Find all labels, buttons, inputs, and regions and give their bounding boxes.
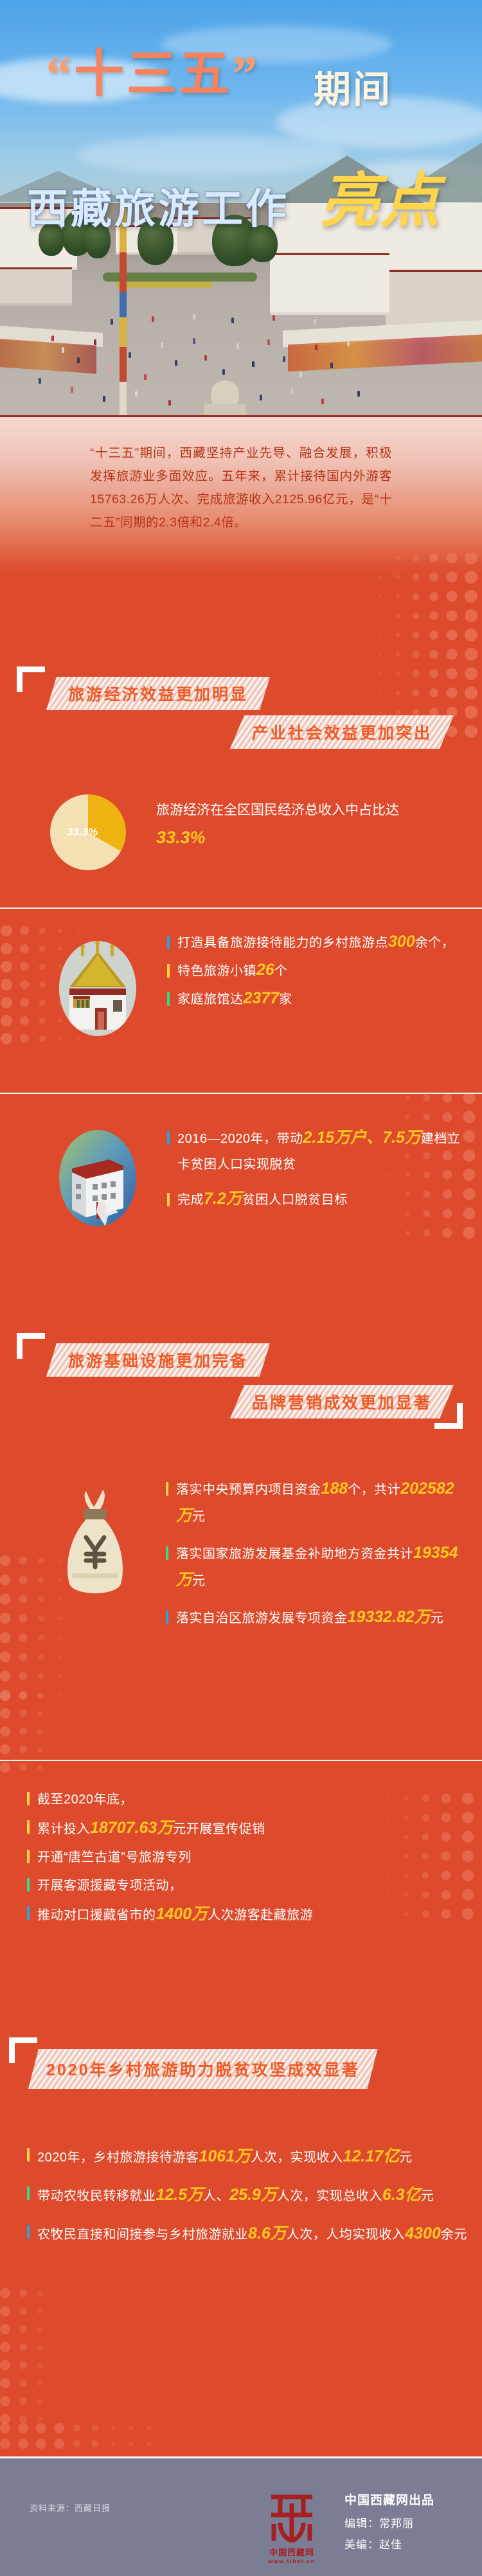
- halftone-dots-left-promo: [0, 1690, 77, 1787]
- banner-4-label: 品牌营销成效更加显著: [252, 1390, 432, 1413]
- fact-item: 家庭旅馆达2377家: [167, 986, 463, 1012]
- source-text: 资料来源：西藏日报: [30, 2501, 111, 2514]
- barkhor-square-photo: [0, 203, 482, 415]
- fact-item: 带动农牧民转移就业12.5万人、25.9万人次，实现总收入6.3亿元: [27, 2180, 470, 2211]
- corner-bracket-icon: [17, 1333, 45, 1359]
- banner-3-label: 旅游基础设施更加完备: [68, 1348, 248, 1372]
- pie-description-text: 旅游经济在全区国民经济总收入中占比达: [156, 803, 399, 818]
- banner-row-5: 2020年乡村旅游助力脱贫攻坚成效显著: [0, 2049, 482, 2089]
- banner-row-4: 品牌营销成效更加显著: [0, 1385, 482, 1418]
- halftone-dots-footer: [0, 2423, 167, 2458]
- corner-bracket-icon: [17, 666, 45, 692]
- fact-item: 落实自治区旅游发展专项资金19332.82万元: [166, 1604, 468, 1631]
- temple-section: 打造具备旅游接待能力的乡村旅游点300余个， 特色旅游小镇26个 家庭旅馆达23…: [0, 926, 482, 1093]
- fact-item: 特色旅游小镇26个: [167, 958, 463, 983]
- banner-2: 产业社会效益更加突出: [230, 715, 454, 749]
- rural-section: 2020年，乡村旅游接待游客1061万人次，实现收入12.17亿元 带动农牧民转…: [0, 2142, 482, 2399]
- logo-name: 中国西藏网: [260, 2546, 324, 2558]
- pie-slice-label: 33.3%: [67, 826, 98, 839]
- designer-label: 美编：赵佳: [344, 2536, 434, 2552]
- banner-1: 旅游经济效益更加明显: [46, 677, 270, 710]
- fact-item: 开展客源援藏专项活动，: [27, 1872, 470, 1900]
- credits-block: 中国西藏网出品 编辑：常邦丽 美编：赵佳: [344, 2491, 434, 2557]
- producer-label: 中国西藏网出品: [344, 2491, 434, 2508]
- divider-3: [0, 1760, 482, 1761]
- banner-group-5: 2020年乡村旅游助力脱贫攻坚成效显著: [0, 2049, 482, 2089]
- banner-group-3: 旅游基础设施更加完备: [0, 1343, 482, 1377]
- fact-item: 截至2020年底，: [27, 1785, 470, 1814]
- banner-row-2: 产业社会效益更加突出: [0, 715, 482, 749]
- prayer-flag-pole: [120, 203, 127, 415]
- fact-item: 农牧民直接和间接参与乡村旅游就业8.6万人次，人均实现收入4300余元: [27, 2219, 470, 2250]
- banner-group-4: 品牌营销成效更加显著: [0, 1385, 482, 1418]
- tibet-seal-icon: [265, 2489, 319, 2545]
- pie-description: 旅游经济在全区国民经济总收入中占比达33.3%: [156, 797, 439, 853]
- banner-1-label: 旅游经济效益更加明显: [68, 682, 248, 705]
- fact-item: 落实中央预算内项目资金188个，共计202582万元: [166, 1476, 468, 1530]
- tibetan-temple-icon: [59, 941, 136, 1036]
- banner-2-label: 产业社会效益更加突出: [252, 720, 432, 744]
- divider-1: [0, 908, 482, 909]
- government-building-icon: [59, 1130, 136, 1226]
- fact-item: 打造具备旅游接待能力的乡村旅游点300余个，: [167, 929, 463, 955]
- fact-item: 完成7.2万贫困人口脱贫目标: [167, 1186, 463, 1212]
- banner-row-3: 旅游基础设施更加完备: [0, 1343, 482, 1377]
- promo-section: 截至2020年底， 累计投入18707.63万元开展宣传促销 开通“唐竺古道”号…: [0, 1785, 482, 1991]
- fact-item: 落实国家旅游发展基金补助地方资金共计19354万元: [166, 1540, 468, 1594]
- intro-panel: “十三五”期间，西藏坚持产业先导、融合发展，积极发挥旅游业多面效应。五年来，累计…: [0, 415, 482, 584]
- pie-section: 33.3% 旅游经济在全区国民经济总收入中占比达33.3%: [0, 785, 482, 882]
- banner-5-label: 2020年乡村旅游助力脱贫攻坚成效显著: [46, 2057, 360, 2080]
- hero-photo: “十三五” 期间 西藏旅游工作 亮点: [0, 0, 482, 415]
- money-facts-list: 落实中央预算内项目资金188个，共计202582万元 落实国家旅游发展基金补助地…: [166, 1476, 468, 1631]
- banner-4: 品牌营销成效更加显著: [230, 1385, 454, 1418]
- tibet-cn-logo: 中国西藏网 www.tibet.cn: [260, 2489, 324, 2564]
- infographic-page: “十三五” 期间 西藏旅游工作 亮点 “十三五”期间，西藏坚持产业先导、融合发展…: [0, 0, 482, 2576]
- logo-url: www.tibet.cn: [260, 2558, 324, 2564]
- fact-item: 推动对口援藏省市的1400万人次游客赴藏旅游: [27, 1900, 470, 1929]
- editor-label: 编辑：常邦丽: [344, 2514, 434, 2530]
- fact-item: 2020年，乡村旅游接待游客1061万人次，实现收入12.17亿元: [27, 2142, 470, 2172]
- pie-description-value: 33.3%: [156, 828, 206, 847]
- corner-bracket-icon: [9, 2037, 37, 2063]
- footer: 资料来源：西藏日报 中国西藏网: [0, 2456, 482, 2576]
- building-facts-list: 2016—2020年，带动2.15万户、7.5万建档立卡贫困人口实现脱贫 完成7…: [167, 1125, 463, 1212]
- banner-3: 旅游基础设施更加完备: [46, 1343, 270, 1377]
- fact-item-continuation-2: 开通“唐竺古道”号旅游专列: [27, 1843, 470, 1872]
- money-section: 落实中央预算内项目资金188个，共计202582万元 落实国家旅游发展基金补助地…: [0, 1472, 482, 1690]
- fact-item-continuation: 累计投入18707.63万元开展宣传促销: [27, 1814, 470, 1843]
- building-section: 2016—2020年，带动2.15万户、7.5万建档立卡贫困人口实现脱贫 完成7…: [0, 1117, 482, 1278]
- banner-row-1: 旅游经济效益更加明显: [0, 677, 482, 710]
- banner-group-2: 产业社会效益更加突出: [0, 715, 482, 749]
- intro-paragraph: “十三五”期间，西藏坚持产业先导、融合发展，积极发挥旅游业多面效应。五年来，累计…: [90, 442, 392, 534]
- promo-facts-list: 截至2020年底， 累计投入18707.63万元开展宣传促销 开通“唐竺古道”号…: [27, 1785, 470, 1929]
- money-bag-yen-icon: [58, 1487, 135, 1603]
- banner-group-1: 旅游经济效益更加明显: [0, 677, 482, 710]
- rural-facts-list: 2020年，乡村旅游接待游客1061万人次，实现收入12.17亿元 带动农牧民转…: [27, 2142, 470, 2250]
- banner-5: 2020年乡村旅游助力脱贫攻坚成效显著: [28, 2049, 378, 2089]
- divider-2: [0, 1093, 482, 1094]
- temple-facts-list: 打造具备旅游接待能力的乡村旅游点300余个， 特色旅游小镇26个 家庭旅馆达23…: [167, 929, 463, 1012]
- fact-item: 2016—2020年，带动2.15万户、7.5万建档立卡贫困人口实现脱贫: [167, 1125, 463, 1177]
